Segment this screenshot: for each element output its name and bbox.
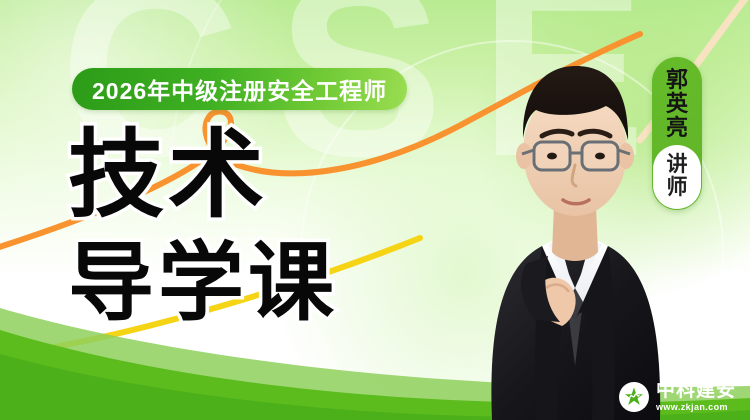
instructor-name-pill: 郭 英 亮 讲 师 [652,57,702,210]
headline-secondary: 导学课 [68,240,338,326]
instructor-role-char-2: 师 [653,176,701,199]
instructor-role: 讲 师 [653,145,701,209]
exam-badge: 2026年中级注册安全工程师 [72,68,407,110]
zkjan-logo-icon [619,382,649,412]
brand-text: 中科建安 www.zkjan.com [656,381,736,412]
course-banner: CSE 2026年中级注册安全工程师 技术 导学课 [0,0,750,420]
instructor-name-char-2: 英 [652,92,702,116]
brand-logo: 中科建安 www.zkjan.com [619,381,736,412]
instructor-name-char-3: 亮 [652,116,702,140]
instructor-name-char-1: 郭 [652,68,702,92]
headline-primary: 技术 [68,128,268,224]
brand-url: www.zkjan.com [656,403,736,412]
brand-name: 中科建安 [656,381,736,400]
instructor-name: 郭 英 亮 [652,57,702,145]
instructor-role-char-1: 讲 [653,153,701,176]
